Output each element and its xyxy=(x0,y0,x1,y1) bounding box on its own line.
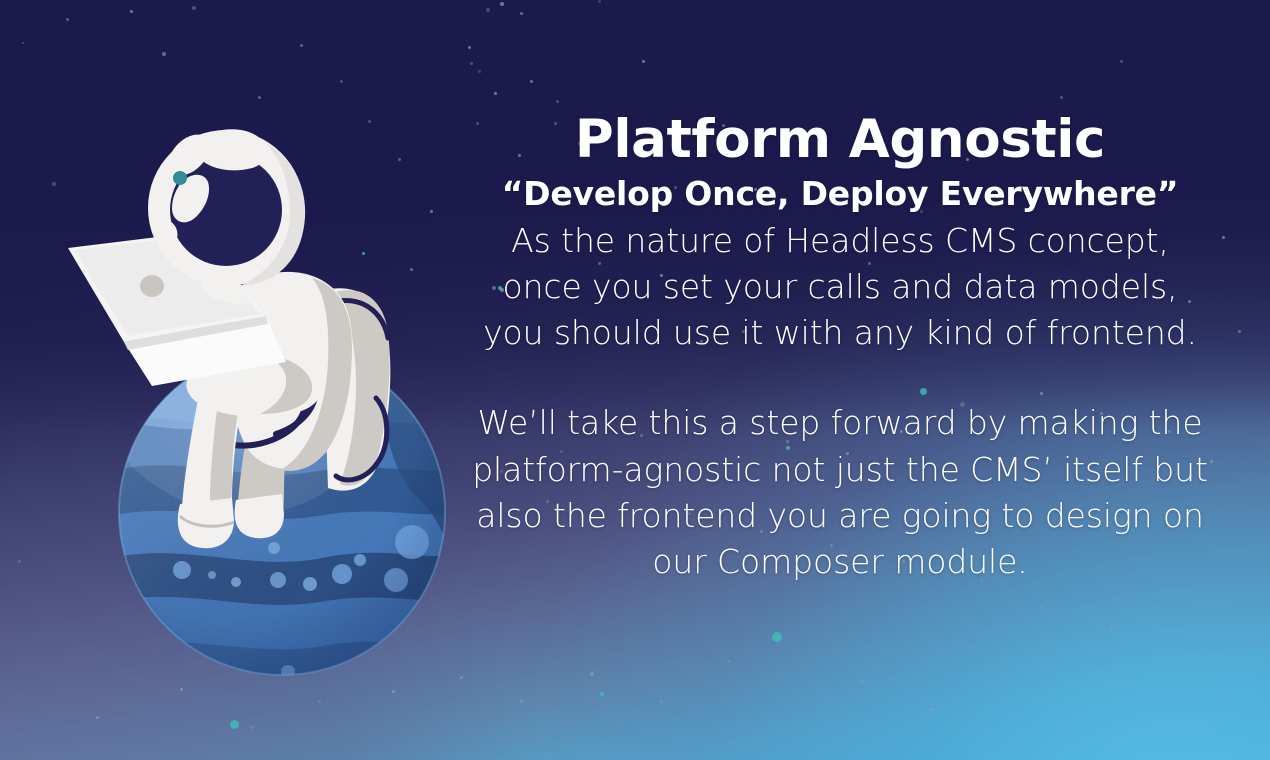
text-panel: Platform Agnostic “Develop Once, Deploy … xyxy=(470,112,1210,585)
body-paragraph-1: As the nature of Headless CMS concept, o… xyxy=(470,218,1210,357)
astronaut-illustration xyxy=(60,80,480,690)
astronaut-graphic xyxy=(68,129,390,548)
tagline: “Develop Once, Deploy Everywhere” xyxy=(470,174,1210,214)
slide-canvas: Platform Agnostic “Develop Once, Deploy … xyxy=(0,0,1270,760)
body-paragraph-2: We’ll take this a step forward by making… xyxy=(470,400,1210,585)
page-title: Platform Agnostic xyxy=(470,112,1210,168)
paragraph-spacer xyxy=(470,356,1210,400)
